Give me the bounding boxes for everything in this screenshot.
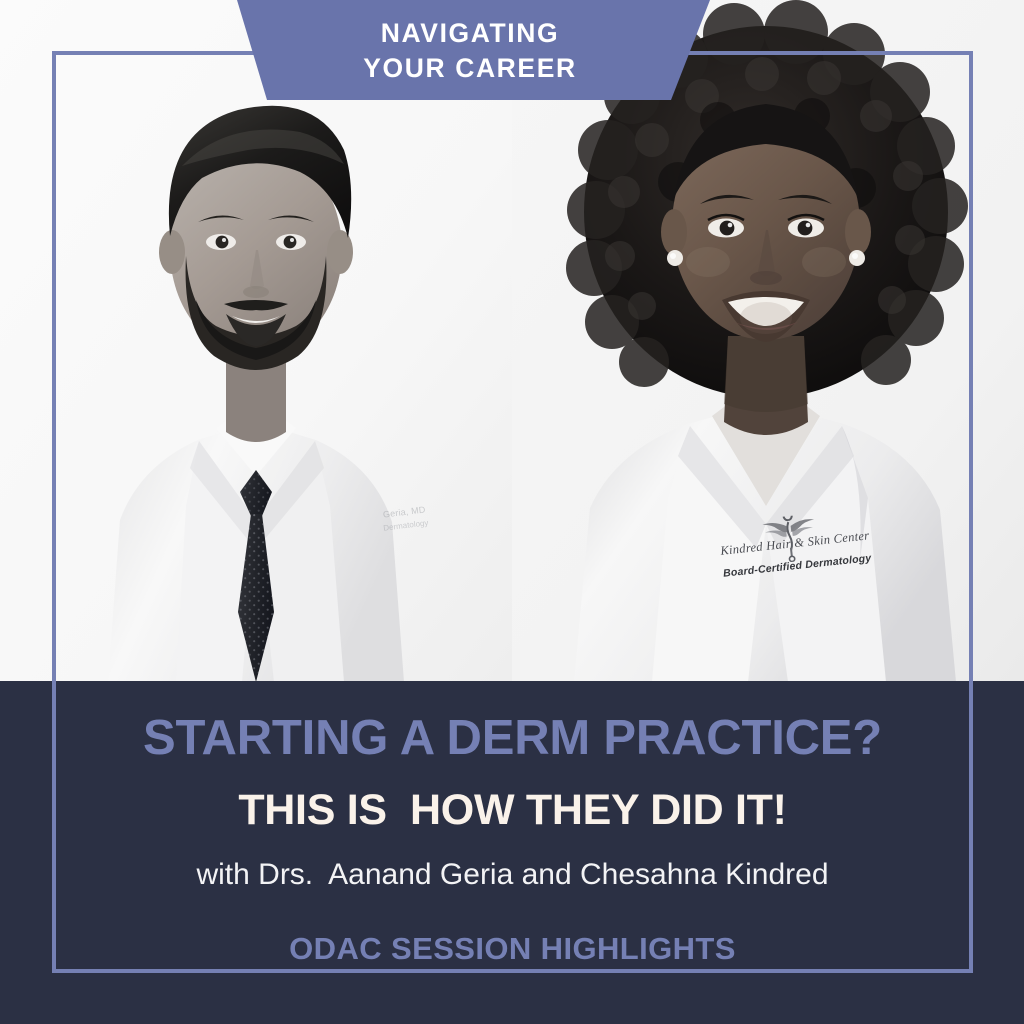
poster-canvas: Geria, MD Dermatology Kindred Hair & Ski… xyxy=(0,0,1024,1024)
portrait-photo-strip: Geria, MD Dermatology Kindred Hair & Ski… xyxy=(0,0,1024,682)
presenters-line: with Drs. Aanand Geria and Chesahna Kind… xyxy=(196,860,828,890)
poster-text-block: STARTING A DERM PRACTICE? THIS IS HOW TH… xyxy=(52,700,973,964)
session-tag: ODAC SESSION HIGHLIGHTS xyxy=(289,933,736,964)
top-banner: NAVIGATING YOUR CAREER xyxy=(230,0,710,100)
headline-primary: STARTING A DERM PRACTICE? xyxy=(143,714,882,763)
headline-secondary: THIS IS HOW THEY DID IT! xyxy=(238,789,786,832)
right-portrait-photo xyxy=(512,0,1024,682)
left-portrait-photo xyxy=(0,0,512,682)
banner-line-2: YOUR CAREER xyxy=(363,51,576,86)
banner-line-1: NAVIGATING xyxy=(381,16,559,51)
